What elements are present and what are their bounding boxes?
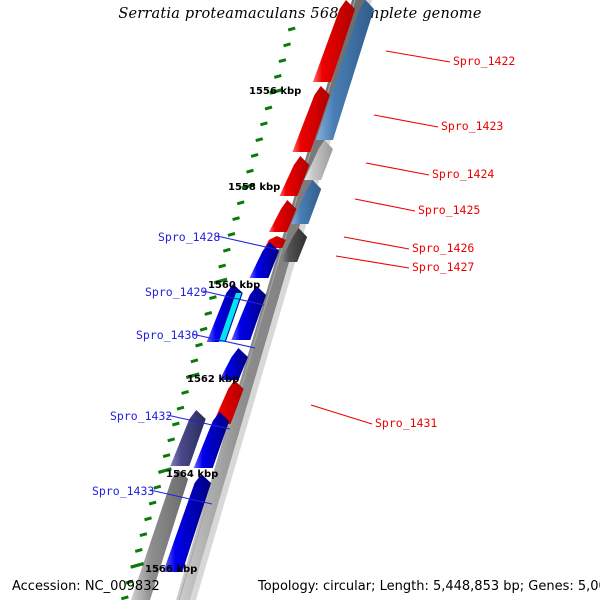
accession-text: Accession: NC_009832 [12, 579, 160, 594]
scale-tick-minor [233, 218, 240, 220]
scale-tick-minor [191, 360, 198, 362]
scale-tick-minor [172, 423, 179, 425]
scale-tick-minor [256, 139, 263, 141]
scale-tick-minor [154, 486, 161, 488]
gene-label-spro_1424[interactable]: Spro_1424 [432, 169, 494, 181]
scale-tick-minor [223, 249, 230, 251]
scale-tick-minor [237, 202, 244, 204]
scale-tick-minor [274, 75, 281, 77]
scale-tick-minor [168, 439, 175, 441]
scale-tick-minor [145, 518, 152, 520]
leader-line [355, 199, 415, 211]
genome-meta-text: Topology: circular; Length: 5,448,853 bp… [258, 579, 600, 594]
scale-tick-minor [177, 407, 184, 409]
gene-label-spro_1423[interactable]: Spro_1423 [441, 121, 503, 133]
scale-label: 1560 kbp [208, 281, 260, 291]
scale-tick-minor [140, 534, 147, 536]
scale-label: 1556 kbp [249, 87, 301, 97]
gene-label-spro_1433[interactable]: Spro_1433 [92, 486, 154, 498]
gene-label-spro_1431[interactable]: Spro_1431 [375, 418, 437, 430]
gene-label-spro_1430[interactable]: Spro_1430 [136, 330, 198, 342]
scale-label: 1558 kbp [228, 183, 280, 193]
gene-label-spro_1429[interactable]: Spro_1429 [145, 287, 207, 299]
scale-tick-minor [200, 328, 207, 330]
scale-tick-minor [121, 597, 128, 599]
gene-label-spro_1432[interactable]: Spro_1432 [110, 411, 172, 423]
leader-line [366, 163, 429, 175]
leader-line [336, 256, 409, 268]
scale-label: 1564 kbp [166, 470, 218, 480]
leader-line [344, 237, 409, 249]
gene-label-spro_1426[interactable]: Spro_1426 [412, 243, 474, 255]
gene-label-spro_1427[interactable]: Spro_1427 [412, 262, 474, 274]
scale-tick-minor [219, 265, 226, 267]
scale-label: 1566 kbp [145, 565, 197, 575]
scale-tick-minor [279, 60, 286, 62]
genome-viewer: Serratia proteamaculans 568, complete ge… [0, 0, 600, 600]
scale-tick-minor [205, 312, 212, 314]
scale-tick-minor [246, 170, 253, 172]
scale-tick-minor [196, 344, 203, 346]
scale-tick-minor [260, 123, 267, 125]
scale-tick-minor [288, 28, 295, 30]
leader-line [311, 405, 372, 424]
gene-label-spro_1428[interactable]: Spro_1428 [158, 232, 220, 244]
gene-label-spro_1422[interactable]: Spro_1422 [453, 56, 515, 68]
leader-line [386, 51, 450, 62]
leader-line [374, 115, 438, 127]
scale-tick-minor [209, 297, 216, 299]
scale-tick-minor [182, 391, 189, 393]
scale-tick-minor [163, 455, 170, 457]
gene-label-spro_1425[interactable]: Spro_1425 [418, 205, 480, 217]
scale-tick-minor [284, 44, 291, 46]
scale-label: 1562 kbp [187, 375, 239, 385]
scale-tick-minor [135, 549, 142, 551]
scale-tick-minor [149, 502, 156, 504]
scale-tick-minor [228, 233, 235, 235]
scale-tick-major [131, 564, 144, 568]
scale-tick-minor [265, 107, 272, 109]
scale-tick-minor [251, 154, 258, 156]
